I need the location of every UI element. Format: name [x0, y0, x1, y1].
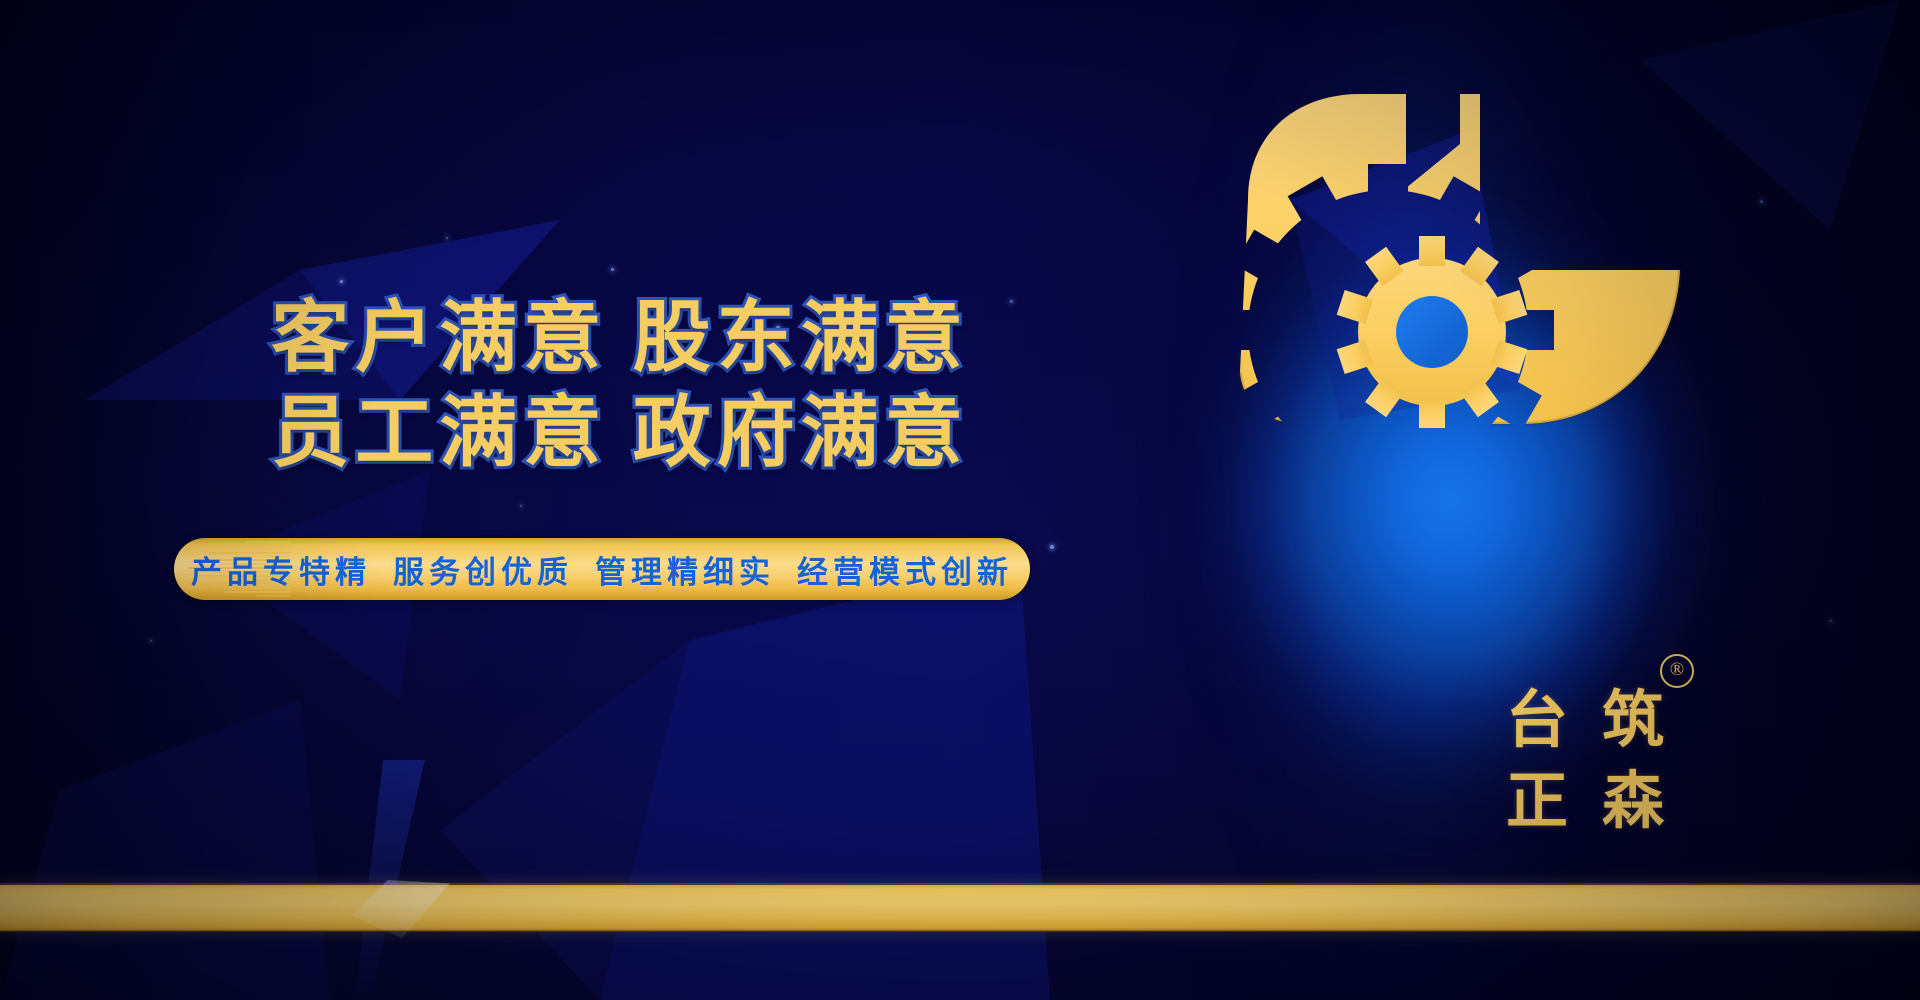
- banner-stage: 客户满意 股东满意 员工满意 政府满意 产品专特精 服务创优质 管理精细实: [0, 0, 1920, 1000]
- vignette-overlay: [0, 0, 1920, 1000]
